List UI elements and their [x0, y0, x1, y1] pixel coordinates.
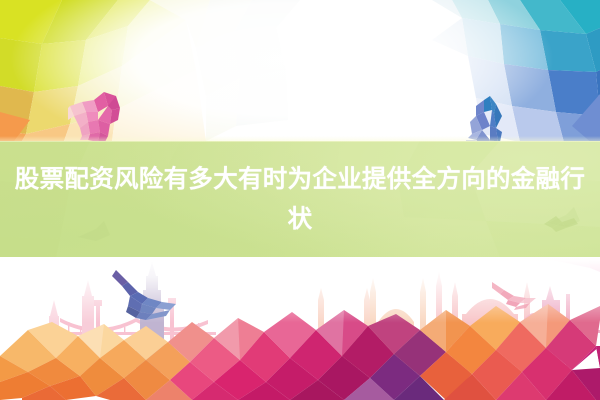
- band-bottom-edge-glow: [0, 257, 600, 265]
- page-title: 股票配资风险有多大有时为企业提供全方向的金融行状: [8, 159, 592, 239]
- title-band: 股票配资风险有多大有时为企业提供全方向的金融行状: [0, 141, 600, 257]
- top-white-haze: [0, 0, 600, 141]
- title-text-wrapper: 股票配资风险有多大有时为企业提供全方向的金融行状: [8, 141, 592, 257]
- bottom-white-haze: [0, 257, 600, 400]
- article-banner-image: 股票配资风险有多大有时为企业提供全方向的金融行状: [0, 0, 600, 400]
